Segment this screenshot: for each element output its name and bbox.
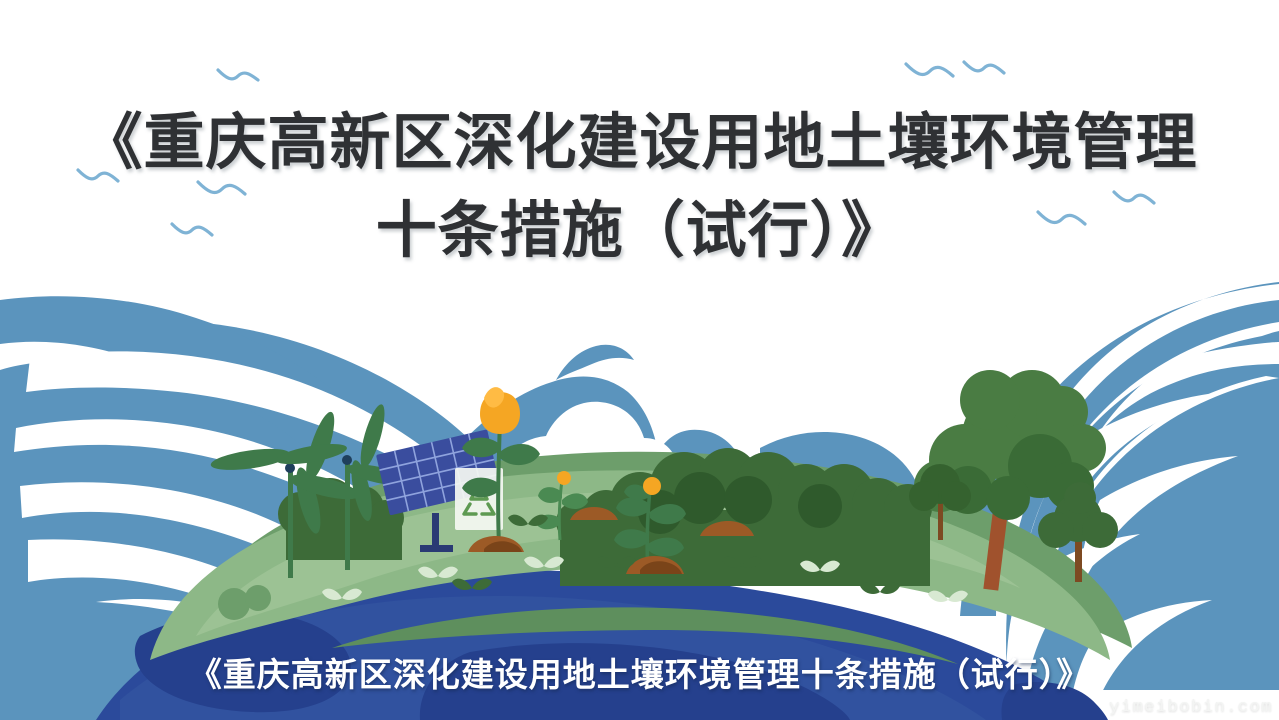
seedling-bud xyxy=(643,477,661,495)
slide-canvas: 《重庆高新区深化建设用地土壤环境管理 十条措施（试行）》 《重庆高新区深化建设用… xyxy=(0,0,1279,720)
illustration-canvas xyxy=(0,0,1279,720)
recycling-sign xyxy=(455,468,503,530)
